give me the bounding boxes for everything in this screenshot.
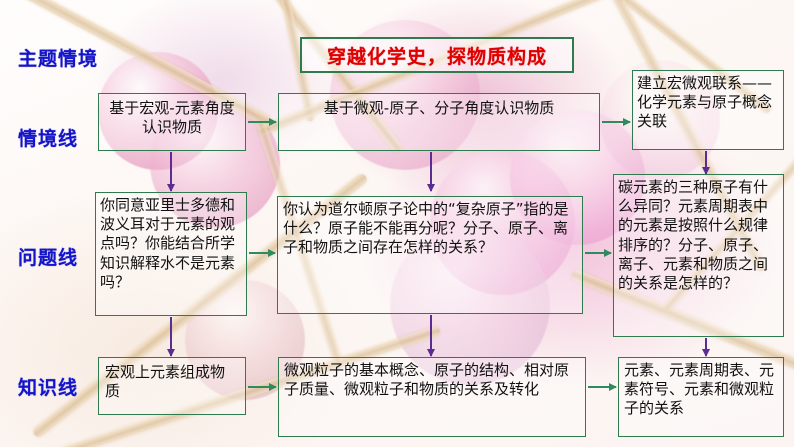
arrow-question-1-to-2 [249,252,275,254]
arrow-situation-2-to-3 [602,121,630,123]
arrow-knowledge-2-to-3 [588,386,616,388]
theme-scenario-label: 主题情境 [18,44,98,71]
situation-node-3[interactable]: 建立宏微观联系——化学元素与原子概念关联 [632,70,784,150]
row-label-situation: 情境线 [18,124,78,151]
arrow-situation-1-to-2 [248,121,276,123]
slide-canvas: 主题情境 穿越化学史，探物质构成 情境线 问题线 知识线 基于宏观-元素角度认识… [0,0,794,447]
knowledge-node-2[interactable]: 微观粒子的基本概念、原子的结构、相对原子质量、微观粒子和物质的关系及转化 [278,357,586,437]
row-label-question: 问题线 [18,243,78,270]
arrow-question1-to-knowledge1 [170,317,172,356]
situation-node-1[interactable]: 基于宏观-元素角度认识物质 [98,93,246,151]
slide-title: 穿越化学史，探物质构成 [300,37,574,73]
situation-node-2[interactable]: 基于微观-原子、分子角度认识物质 [278,93,600,151]
arrow-situation2-to-question2 [430,152,432,191]
question-node-2[interactable]: 你认为道尔顿原子论中的“复杂原子”指的是什么？原子能不能再分呢？分子、原子、离子… [277,196,583,314]
question-node-1[interactable]: 你同意亚里士多德和波义耳对于元素的观点吗？你能结合所学知识解释水不是元素吗？ [95,192,247,316]
arrow-question2-to-knowledge2 [430,315,432,356]
row-label-knowledge: 知识线 [18,373,78,400]
arrow-situation3-to-question3 [705,151,707,174]
knowledge-node-1[interactable]: 宏观上元素组成物质 [98,357,246,415]
arrow-question3-to-knowledge3 [705,338,707,356]
knowledge-node-3[interactable]: 元素、元素周期表、元素符号、元素和微观粒子的关系 [618,357,784,437]
question-node-3[interactable]: 碳元素的三种原子有什么异同？元素周期表中的元素是按照什么规律排序的？分子、原子、… [613,174,784,337]
arrow-situation1-to-question1 [170,152,172,191]
arrow-question-2-to-3 [585,252,611,254]
arrow-knowledge-1-to-2 [248,386,276,388]
